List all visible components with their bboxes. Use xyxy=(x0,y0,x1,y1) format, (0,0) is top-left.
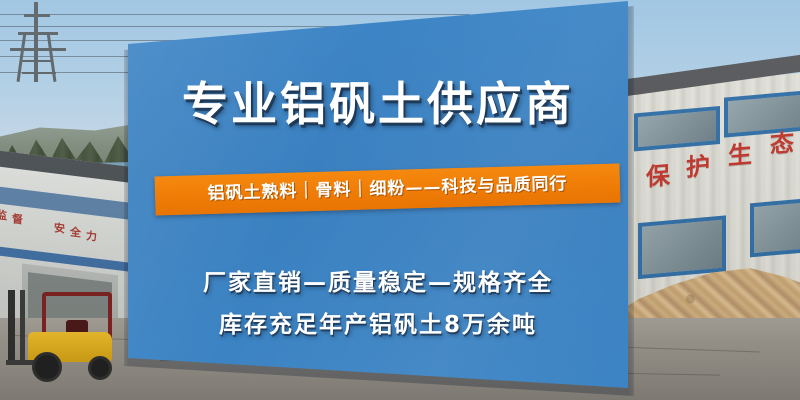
building-sign-char-1: 保 xyxy=(646,164,670,190)
forklift-wheel xyxy=(32,352,62,382)
banner-headline: 专业铝矾土供应商 xyxy=(128,78,628,130)
yellow-forklift xyxy=(6,290,126,385)
sign-char: 督 xyxy=(12,214,23,226)
tagline-bar: 铝矾土熟料｜骨料｜细粉——科技与品质同行 xyxy=(155,164,621,216)
sign-char: 安 xyxy=(54,223,65,235)
tagline-text: 铝矾土熟料｜骨料｜细粉——科技与品质同行 xyxy=(155,164,621,216)
power-transmission-tower-icon xyxy=(6,2,70,82)
sign-char: 全 xyxy=(70,227,81,239)
banner-subline-2: 库存充足年产铝矾土8万余吨 xyxy=(128,305,628,339)
forklift-mast xyxy=(20,290,25,360)
banner-content: 专业铝矾土供应商 铝矾土熟料｜骨料｜细粉——科技与品质同行 厂家直销—质量稳定—… xyxy=(128,0,628,400)
window xyxy=(750,196,800,257)
building-sign-char-3: 生 xyxy=(728,143,752,169)
building-sign-char-4: 态 xyxy=(770,131,794,157)
window xyxy=(634,106,720,152)
sign-char: 力 xyxy=(86,231,97,243)
banner-subline-1: 厂家直销—质量稳定—规格齐全 xyxy=(128,263,628,297)
forklift-wheel xyxy=(88,356,112,380)
forklift-mast xyxy=(8,290,15,360)
promo-banner: 监 督 安 全 力 保 护 生 态 xyxy=(0,0,800,400)
building-sign-char-2: 护 xyxy=(686,155,710,181)
sign-char: 监 xyxy=(0,210,7,222)
window xyxy=(638,215,726,279)
